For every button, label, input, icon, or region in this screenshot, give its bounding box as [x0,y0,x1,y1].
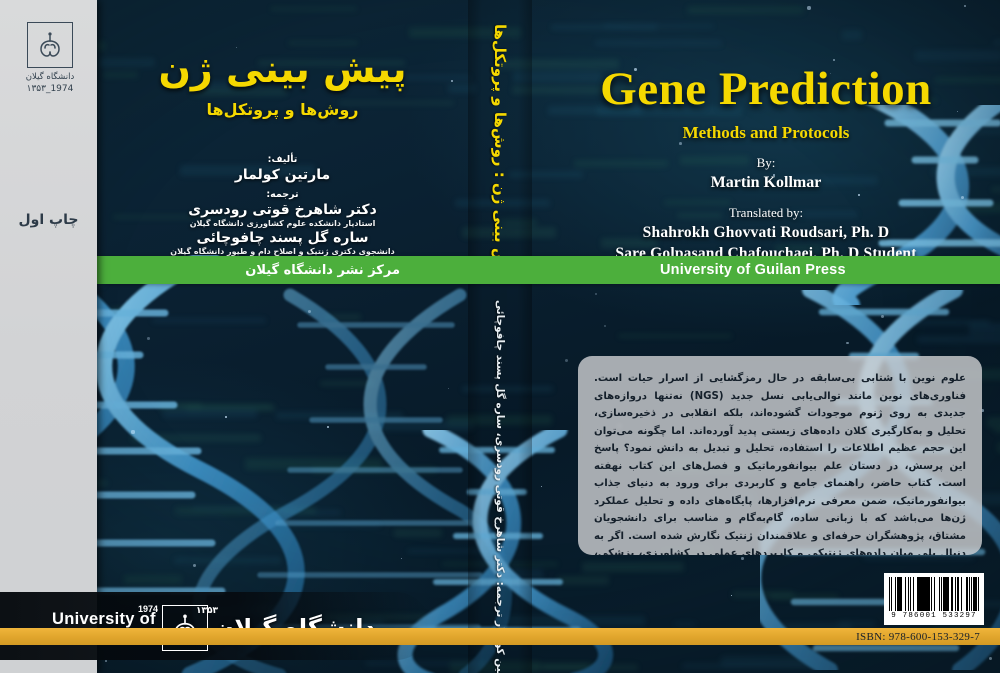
barcode-digits: 9 786001 533297 [889,612,979,620]
spine-title: پیش بینی ژن : روش‌ها و پروتکل‌ها [491,24,509,281]
edition-badge: چاپ اول [0,212,97,228]
author-label-fa: تألیف: [97,154,468,165]
translator-1-name-fa: دکتر شاهرخ قوتی رودسری [97,202,468,218]
gold-stripe [0,628,1000,645]
barcode-bars [889,577,979,611]
back-cover-title-block: پیش بینی ژن روش‌ها و پروتکل‌ها [97,48,468,119]
publisher-band: مرکز نشر دانشگاه گیلان University of Gui… [0,256,1000,284]
translator-1-en: Shahrokh Ghovvati Roudsari, Ph. D [532,224,1000,242]
cover-flap: دانشگاه گیلان ۱۳۵۳_1974 چاپ اول [0,0,97,673]
front-translators-block: Translated by: Shahrokh Ghovvati Roudsar… [532,205,1000,263]
publisher-name-fa: مرکز نشر دانشگاه گیلان [245,263,400,278]
spine-authors: تألیف: مارتین کولمار ترجمه: دکتر شاهرخ ق… [494,300,506,673]
translator-2-name-fa: ساره گل پسند چافوچائی [97,230,468,246]
author-name-fa: مارتین کولمار [97,167,468,183]
translator-1-affiliation-fa: استادیار دانشکده علوم کشاورزی دانشگاه گی… [97,219,468,228]
flap-year: ۱۳۵۳_1974 [22,84,78,94]
front-byline-block: By: Martin Kollmar [532,155,1000,192]
front-subtitle-en: Methods and Protocols [532,123,1000,143]
front-title-en: Gene Prediction [532,62,1000,116]
isbn-text: ISBN: 978-600-153-329-7 [856,629,980,644]
translated-by-label-en: Translated by: [532,205,1000,221]
book-spine: پیش بینی ژن : روش‌ها و پروتکل‌ها تألیف: … [468,0,532,673]
flap-logo-block: دانشگاه گیلان ۱۳۵۳_1974 [22,22,78,94]
publisher-name-en: University of Guilan Press [660,262,846,278]
by-label-en: By: [532,155,1000,171]
back-title-fa: پیش بینی ژن [97,48,468,92]
translator-label-fa: ترجمه: [97,189,468,200]
author-name-en: Martin Kollmar [532,174,1000,192]
back-subtitle-fa: روش‌ها و پروتکل‌ها [97,100,468,119]
university-year-fa: ۱۳۵۳ [196,606,218,616]
back-cover-credits: تألیف: مارتین کولمار ترجمه: دکتر شاهرخ ق… [97,148,468,256]
guilan-university-emblem-icon [27,22,73,68]
book-cover: پیش بینی ژن : روش‌ها و پروتکل‌ها تألیف: … [0,0,1000,673]
back-cover-blurb: علوم نوین با شتابی بی‌سابقه در حال رمزگش… [578,356,982,555]
isbn-barcode: 9 786001 533297 [884,573,984,625]
flap-university-name-fa: دانشگاه گیلان [22,72,78,82]
translator-2-affiliation-fa: دانشجوی دکتری ژنتیک و اصلاح دام و طیور د… [97,247,468,256]
university-year-en: 1974 [138,604,158,614]
